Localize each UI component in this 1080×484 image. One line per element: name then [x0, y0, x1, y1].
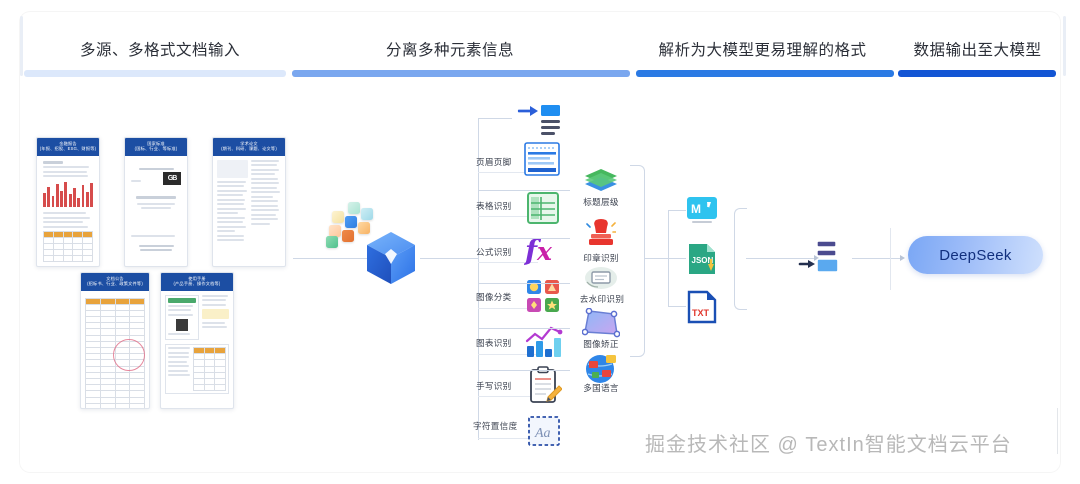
connector-payload-to-model [852, 258, 902, 259]
connector-to-json [668, 258, 686, 259]
right-divider [1057, 408, 1058, 454]
connector-docs-to-cube [293, 258, 369, 259]
doc-thumb-product-manual[interactable]: 使用手册 (产品手册、操作文档等) [160, 272, 234, 409]
watermark-text: 掘金技术社区 @ TextIn智能文档云平台 [645, 428, 1012, 457]
md-label: M [691, 202, 701, 216]
phase-bar-separate [292, 70, 630, 77]
phase-bar-parse [636, 70, 894, 77]
phase-header-input: 多源、多格式文档输入 [60, 38, 260, 60]
doc-thumb-header: 学术论文 (期刊、科研、课题、论文等) [213, 138, 285, 156]
connector-to-secondary-3 [478, 283, 570, 284]
character-aa-icon: Aa [528, 416, 560, 451]
connector-bracket-to-formats [644, 258, 668, 259]
connector-to-md [668, 210, 686, 211]
phase-title-parse: 解析为大模型更易理解的格式 [645, 38, 880, 60]
doc-thumb-header: 金融报告 (年报、招股、ESG、财报等) [37, 138, 99, 156]
connector-trunk-top [478, 118, 512, 119]
connector-to-secondary-5 [478, 370, 570, 371]
svg-text:Aa: Aa [534, 426, 551, 441]
doc-title-line2: (产品手册、操作文档等) [163, 281, 231, 286]
doc-thumb-national-standard[interactable]: 国家标准 (国标、行业、等标准) GB [124, 137, 188, 267]
phase-title-input: 多源、多格式文档输入 [60, 38, 260, 60]
feature-label-header-footer: 页眉页脚 [476, 156, 512, 168]
phase-header-separate: 分离多种元素信息 [350, 38, 550, 60]
handwriting-clipboard-icon [528, 366, 562, 409]
structured-output-icon [798, 238, 846, 283]
doc-title-line2: (年报、招股、ESG、财报等) [39, 146, 97, 151]
doc-thumb-body [213, 156, 285, 248]
feature-label-chart: 图表识别 [476, 337, 512, 349]
doc-thumb-header: 使用手册 (产品手册、操作文档等) [161, 273, 233, 291]
phase-header-parse: 解析为大模型更易理解的格式 [645, 38, 880, 60]
svg-text:x: x [536, 237, 553, 266]
txt-file-icon[interactable]: TXT [686, 290, 716, 324]
doc-mini-table [43, 231, 93, 263]
deepseek-model-button[interactable]: DeepSeek [908, 236, 1043, 274]
txt-label: TXT [692, 308, 710, 318]
phase-header-output: 数据输出至大模型 [895, 38, 1060, 60]
deepseek-label: DeepSeek [939, 247, 1011, 264]
right-edge-marker [1063, 16, 1066, 76]
stamp-icon [586, 218, 616, 255]
chart-icon [524, 324, 564, 363]
doc-title-line2: (招标书、行业、政策文件等) [83, 281, 147, 286]
output-column-divider [890, 228, 891, 290]
doc-thumb-financial-report[interactable]: 金融报告 (年报、招股、ESG、财报等) [36, 137, 100, 267]
phase-bar-input [24, 70, 286, 77]
doc-title-line2: (国标、行业、等标准) [127, 146, 185, 151]
formats-group-bracket [734, 208, 747, 310]
left-edge-marker [20, 16, 23, 76]
feature-label-handwriting: 手写识别 [476, 380, 512, 392]
connector-cube-to-features [420, 258, 478, 259]
doc-thumb-academic-paper[interactable]: 学术论文 (期刊、科研、课题、论文等) [212, 137, 286, 267]
feature-label-multilanguage: 多国语言 [571, 382, 631, 394]
doc-thumb-body [37, 156, 99, 268]
parsed-document-icon [516, 102, 562, 143]
table-icon [527, 192, 559, 229]
feature-label-watermark-removal: 去水印识别 [566, 293, 638, 305]
doc-thumb-body: GB [125, 156, 187, 257]
formula-fx-icon: f x [524, 234, 564, 271]
features-group-bracket [630, 165, 645, 357]
markdown-file-icon[interactable]: M [686, 194, 716, 228]
phase-bar-output [898, 70, 1056, 77]
feature-label-char-confidence: 字符置信度 [473, 420, 517, 432]
phase-title-output: 数据输出至大模型 [895, 38, 1060, 60]
red-seal-icon [113, 339, 145, 371]
doc-bar-chart [43, 181, 93, 207]
connector-to-secondary-2 [478, 238, 570, 239]
textin-engine-cube-icon [365, 230, 417, 286]
connector-to-secondary-1 [478, 190, 570, 191]
doc-thumb-body [161, 291, 233, 399]
connector-to-txt [668, 306, 686, 307]
json-file-icon[interactable]: JSON [686, 242, 716, 276]
document-layout-icon [524, 142, 560, 181]
gb-standard-badge: GB [163, 172, 181, 185]
feature-label-image-correction: 图像矫正 [571, 338, 631, 350]
phase-title-separate: 分离多种元素信息 [350, 38, 550, 60]
feature-label-heading-level: 标题层级 [571, 196, 631, 208]
feature-label-table: 表格识别 [476, 200, 512, 212]
feature-label-formula: 公式识别 [476, 246, 512, 258]
diagram-canvas: 多源、多格式文档输入 分离多种元素信息 解析为大模型更易理解的格式 数据输出至大… [0, 0, 1080, 484]
image-grid-icon [527, 280, 559, 317]
doc-thumb-body [81, 291, 149, 410]
doc-title-line2: (期刊、科研、课题、论文等) [215, 146, 283, 151]
arrowhead-to-model [900, 255, 905, 261]
feature-label-image-classify: 图像分类 [476, 291, 512, 303]
doc-thumb-header: 国家标准 (国标、行业、等标准) [125, 138, 187, 156]
doc-thumb-contract-doc[interactable]: 文档公告 (招标书、行业、政策文件等) [80, 272, 150, 409]
doc-thumb-header: 文档公告 (招标书、行业、政策文件等) [81, 273, 149, 291]
connector-to-secondary-4 [478, 328, 570, 329]
feature-label-stamp: 印章识别 [571, 252, 631, 264]
